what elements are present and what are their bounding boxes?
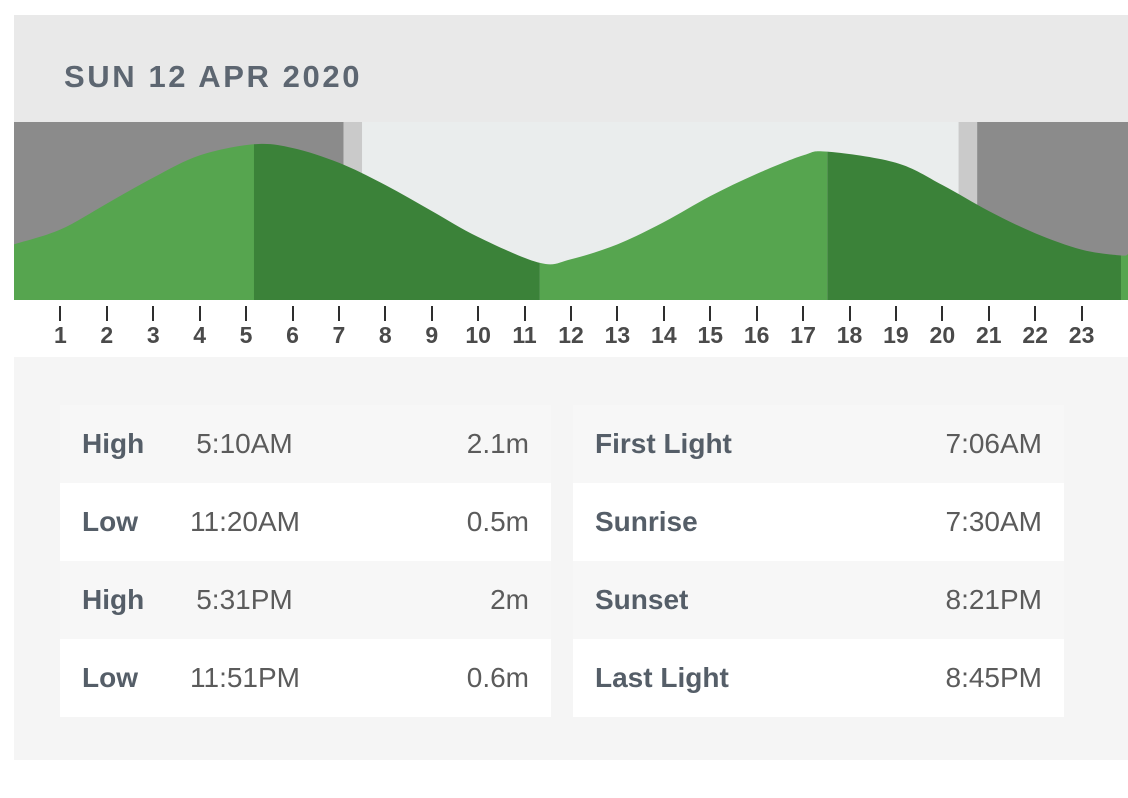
tide-row-time: 5:10AM [196, 428, 293, 460]
tide-row-time: 11:51PM [190, 662, 300, 694]
hour-tick-14 [663, 306, 665, 321]
tide-chart [14, 122, 1128, 300]
hour-label-21: 21 [976, 322, 1002, 349]
tide-row-height: 0.6m [467, 662, 529, 694]
table-row: First Light7:06AM [573, 405, 1064, 483]
sun-row-time: 7:06AM [946, 428, 1043, 460]
details-panel: High5:10AM2.1mLow11:20AM0.5mHigh5:31PM2m… [14, 357, 1128, 760]
hour-tick-12 [570, 306, 572, 321]
hour-label-6: 6 [286, 322, 299, 349]
hour-label-9: 9 [425, 322, 438, 349]
table-row: Last Light8:45PM [573, 639, 1064, 717]
tide-row-time: 5:31PM [196, 584, 293, 616]
sun-row-time: 8:45PM [946, 662, 1043, 694]
hour-label-13: 13 [605, 322, 631, 349]
table-row: Low11:51PM0.6m [60, 639, 551, 717]
tide-day-card: SUN 12 APR 2020 123456789101112131415161… [0, 0, 1128, 798]
hour-tick-18 [849, 306, 851, 321]
sun-row-time: 8:21PM [946, 584, 1043, 616]
hour-tick-11 [524, 306, 526, 321]
hour-tick-15 [709, 306, 711, 321]
hour-tick-19 [895, 306, 897, 321]
hour-tick-21 [988, 306, 990, 321]
table-row: Sunrise7:30AM [573, 483, 1064, 561]
tide-row-height: 0.5m [467, 506, 529, 538]
hour-tick-13 [616, 306, 618, 321]
tide-row-label: High [82, 428, 144, 460]
hour-tick-6 [292, 306, 294, 321]
hour-label-2: 2 [100, 322, 113, 349]
hour-label-7: 7 [333, 322, 346, 349]
hour-tick-9 [431, 306, 433, 321]
tide-row-label: High [82, 584, 144, 616]
hour-axis: 1234567891011121314151617181920212223 [14, 300, 1128, 357]
hour-label-20: 20 [930, 322, 956, 349]
hour-label-18: 18 [837, 322, 863, 349]
sun-row-label: Sunrise [595, 506, 698, 538]
hour-tick-2 [106, 306, 108, 321]
hour-tick-20 [941, 306, 943, 321]
hour-tick-17 [802, 306, 804, 321]
date-header: SUN 12 APR 2020 [14, 15, 1128, 122]
hour-tick-8 [384, 306, 386, 321]
tide-table: High5:10AM2.1mLow11:20AM0.5mHigh5:31PM2m… [60, 405, 551, 717]
table-row: Sunset8:21PM [573, 561, 1064, 639]
hour-tick-22 [1034, 306, 1036, 321]
hour-label-15: 15 [697, 322, 723, 349]
hour-label-3: 3 [147, 322, 160, 349]
hour-tick-7 [338, 306, 340, 321]
hour-tick-1 [59, 306, 61, 321]
hour-label-14: 14 [651, 322, 677, 349]
tide-row-height: 2.1m [467, 428, 529, 460]
tide-row-time: 11:20AM [190, 506, 300, 538]
hour-label-12: 12 [558, 322, 584, 349]
hour-label-11: 11 [512, 322, 536, 349]
sun-row-label: First Light [595, 428, 732, 460]
hour-label-4: 4 [193, 322, 206, 349]
hour-label-22: 22 [1022, 322, 1048, 349]
sun-table: First Light7:06AMSunrise7:30AMSunset8:21… [573, 405, 1064, 717]
hour-label-1: 1 [54, 322, 67, 349]
hour-label-10: 10 [465, 322, 491, 349]
hour-label-5: 5 [240, 322, 253, 349]
tide-row-label: Low [82, 662, 138, 694]
sun-row-label: Last Light [595, 662, 729, 694]
hour-label-8: 8 [379, 322, 392, 349]
tide-curve-graphic [14, 122, 1128, 300]
details-tables: High5:10AM2.1mLow11:20AM0.5mHigh5:31PM2m… [60, 405, 1064, 717]
tide-row-height: 2m [490, 584, 529, 616]
hour-tick-10 [477, 306, 479, 321]
sun-row-time: 7:30AM [946, 506, 1043, 538]
page-title: SUN 12 APR 2020 [64, 59, 362, 95]
hour-tick-16 [756, 306, 758, 321]
hour-label-19: 19 [883, 322, 909, 349]
hour-tick-3 [152, 306, 154, 321]
hour-tick-4 [199, 306, 201, 321]
hour-label-16: 16 [744, 322, 770, 349]
table-row: High5:10AM2.1m [60, 405, 551, 483]
table-row: High5:31PM2m [60, 561, 551, 639]
tide-row-label: Low [82, 506, 138, 538]
hour-label-23: 23 [1069, 322, 1095, 349]
hour-label-17: 17 [790, 322, 816, 349]
hour-tick-5 [245, 306, 247, 321]
hour-tick-23 [1081, 306, 1083, 321]
table-row: Low11:20AM0.5m [60, 483, 551, 561]
sun-row-label: Sunset [595, 584, 688, 616]
